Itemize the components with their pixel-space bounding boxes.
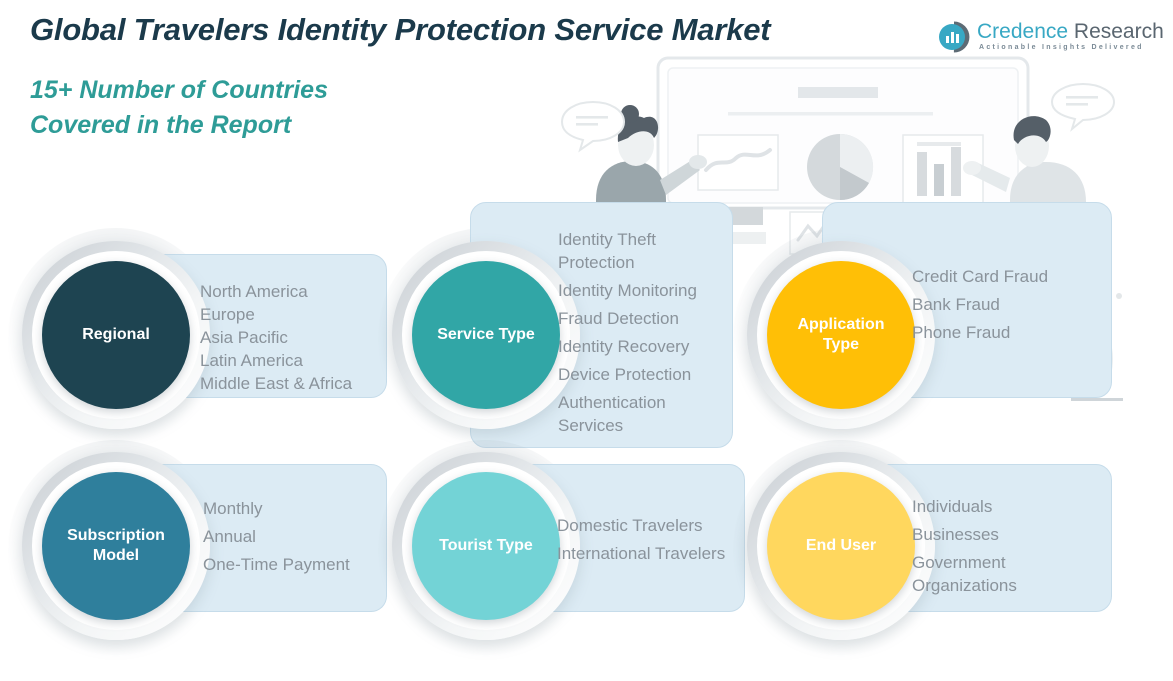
segment-circle-regional[interactable]: Regional — [42, 261, 190, 409]
brand-name: Credence Research — [977, 20, 1164, 44]
list-item: Businesses — [912, 523, 1112, 546]
list-item: International Travelers — [557, 542, 757, 565]
list-item: Identity Recovery — [558, 335, 738, 358]
segment-circle-end-user[interactable]: End User — [767, 472, 915, 620]
segment-items-subscription-model: Monthly Annual One-Time Payment — [203, 497, 403, 581]
subtitle-line-1: 15+ Number of Countries — [30, 73, 328, 108]
brand-tagline: Actionable Insights Delivered — [979, 44, 1144, 51]
list-item: North America — [200, 280, 400, 303]
subtitle-line-2: Covered in the Report — [30, 108, 328, 143]
page-subtitle: 15+ Number of Countries Covered in the R… — [30, 73, 328, 143]
segment-items-end-user: Individuals Businesses Government Organi… — [912, 495, 1112, 602]
list-item: Identity Theft Protection — [558, 228, 738, 274]
list-item: Europe — [200, 303, 400, 326]
credence-logo-icon — [937, 20, 971, 54]
list-item: Monthly — [203, 497, 403, 520]
list-item: Asia Pacific — [200, 326, 400, 349]
segment-circle-service-type[interactable]: Service Type — [412, 261, 560, 409]
brand-logo[interactable]: Credence Research Actionable Insights De… — [937, 18, 1137, 60]
brand-name-part2: Research — [1074, 20, 1164, 43]
list-item: Identity Monitoring — [558, 279, 738, 302]
list-item: Government Organizations — [912, 551, 1112, 597]
segment-items-tourist-type: Domestic Travelers International Travele… — [557, 514, 757, 570]
list-item: Individuals — [912, 495, 1112, 518]
segment-circle-subscription-model[interactable]: Subscription Model — [42, 472, 190, 620]
list-item: Fraud Detection — [558, 307, 738, 330]
brand-name-part1: Credence — [977, 20, 1068, 43]
segment-circle-application-type[interactable]: Application Type — [767, 261, 915, 409]
segment-items-service-type: Identity Theft Protection Identity Monit… — [558, 228, 738, 442]
list-item: Device Protection — [558, 363, 738, 386]
segment-items-application-type: Credit Card Fraud Bank Fraud Phone Fraud — [912, 265, 1112, 349]
list-item: Authentication Services — [558, 391, 738, 437]
list-item: Middle East & Africa — [200, 372, 400, 395]
segment-items-regional: North America Europe Asia Pacific Latin … — [200, 280, 400, 395]
list-item: Domestic Travelers — [557, 514, 757, 537]
list-item: Annual — [203, 525, 403, 548]
segment-circle-tourist-type[interactable]: Tourist Type — [412, 472, 560, 620]
list-item: Bank Fraud — [912, 293, 1112, 316]
list-item: One-Time Payment — [203, 553, 403, 576]
list-item: Phone Fraud — [912, 321, 1112, 344]
page-title: Global Travelers Identity Protection Ser… — [30, 12, 770, 48]
list-item: Credit Card Fraud — [912, 265, 1112, 288]
list-item: Latin America — [200, 349, 400, 372]
